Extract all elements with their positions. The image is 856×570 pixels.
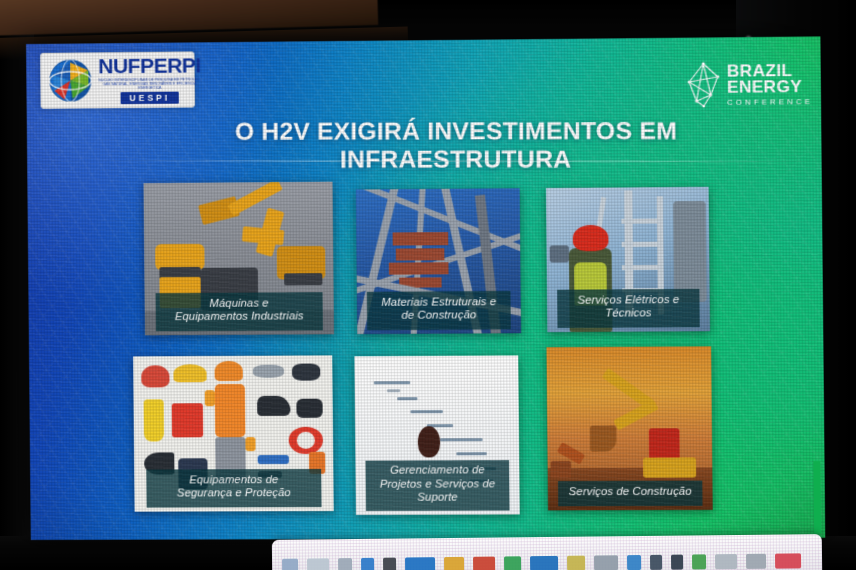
projection-screen: NUFPERPI NUCLEO INTERDISCIPLINAR DE PESQ… bbox=[26, 36, 825, 540]
brazil-energy-conference-text: BRAZIL ENERGY CONFERENCE bbox=[727, 63, 813, 105]
card-gerenciamento[interactable]: Gerenciamento de Projetos e Serviços de … bbox=[354, 355, 519, 515]
caption-line: Equipamentos Industriais bbox=[160, 311, 318, 326]
sponsor-logo-abde bbox=[405, 557, 435, 570]
sponsor-logo-13 bbox=[627, 555, 641, 570]
sponsor-logo-4 bbox=[361, 558, 374, 570]
caption-line: Segurança e Proteção bbox=[150, 487, 317, 501]
sponsor-logo-12 bbox=[594, 555, 618, 570]
bec-line-conference: CONFERENCE bbox=[727, 98, 813, 106]
sponsor-logo-9 bbox=[504, 556, 521, 570]
caption-line: Máquinas e bbox=[160, 297, 318, 312]
polygon-network-icon bbox=[686, 62, 721, 109]
card-construcao[interactable]: Serviços de Construção bbox=[547, 346, 713, 510]
sponsor-logo-8 bbox=[473, 557, 495, 570]
sponsor-logo-15 bbox=[671, 555, 683, 570]
slide-title: O H2V EXIGIRÁ INVESTIMENTOS EM INFRAESTR… bbox=[123, 118, 791, 175]
sponsor-logo-16 bbox=[692, 554, 706, 569]
caption-line: Equipamentos de bbox=[150, 474, 317, 488]
sponsor-logo-7 bbox=[444, 557, 464, 570]
sponsor-logo-bar bbox=[272, 534, 822, 570]
caption-line: Suporte bbox=[370, 492, 506, 506]
sponsor-logo-5 bbox=[383, 558, 396, 570]
card-maquinas[interactable]: Máquinas e Equipamentos Industriais bbox=[144, 182, 335, 336]
sponsor-logo-11 bbox=[567, 556, 585, 570]
card-materiais[interactable]: Materiais Estruturais e de Construção bbox=[356, 188, 521, 334]
card-caption-materiais: Materiais Estruturais e de Construção bbox=[367, 291, 512, 330]
sponsor-logo-18 bbox=[746, 554, 766, 569]
caption-line: Serviços Elétricos e bbox=[561, 294, 696, 309]
card-caption-construcao: Serviços de Construção bbox=[558, 481, 703, 506]
nufperpi-logo-text: NUFPERPI NUCLEO INTERDISCIPLINAR DE PESQ… bbox=[94, 55, 201, 105]
sponsor-logo-14 bbox=[650, 555, 662, 570]
infrastructure-card-grid: Máquinas e Equipamentos Industriais bbox=[113, 177, 743, 527]
card-caption-seguranca: Equipamentos de Segurança e Proteção bbox=[146, 469, 322, 508]
card-caption-gerenciamento: Gerenciamento de Projetos e Serviços de … bbox=[365, 460, 510, 511]
card-caption-maquinas: Máquinas e Equipamentos Industriais bbox=[156, 292, 323, 331]
caption-line: Materiais Estruturais e bbox=[371, 296, 507, 311]
nufperpi-subtitle: NUCLEO INTERDISCIPLINAR DE PESQUISA EM P… bbox=[98, 77, 201, 91]
nufperpi-logo: NUFPERPI NUCLEO INTERDISCIPLINAR DE PESQ… bbox=[40, 51, 195, 108]
card-caption-eletricos: Serviços Elétricos e Técnicos bbox=[557, 289, 700, 328]
sponsor-logo-3 bbox=[338, 558, 352, 570]
sponsor-logo-17 bbox=[715, 554, 737, 569]
caption-line: Projetos e Serviços de bbox=[369, 478, 505, 492]
sponsor-logo-finep bbox=[775, 553, 801, 568]
sponsor-logo-1 bbox=[282, 559, 298, 570]
card-seguranca[interactable]: Equipamentos de Segurança e Proteção bbox=[133, 355, 334, 511]
caption-line: Técnicos bbox=[561, 307, 696, 322]
caption-line: Gerenciamento de bbox=[369, 464, 505, 478]
caption-line: Serviços de Construção bbox=[562, 486, 699, 500]
sponsor-logo-abeeolica bbox=[530, 556, 558, 570]
screen-edge-strip bbox=[813, 461, 821, 534]
brazil-energy-conference-logo: BRAZIL ENERGY CONFERENCE bbox=[686, 55, 801, 115]
conference-room-photo: NUFPERPI NUCLEO INTERDISCIPLINAR DE PESQ… bbox=[0, 0, 856, 570]
caption-line: de Construção bbox=[371, 310, 507, 325]
sponsor-logo-2 bbox=[307, 558, 329, 570]
bec-line-energy: ENERGY bbox=[727, 79, 813, 96]
nufperpi-title: NUFPERPI bbox=[98, 55, 201, 77]
globe-leaf-icon bbox=[46, 56, 95, 104]
card-eletricos[interactable]: Serviços Elétricos e Técnicos bbox=[546, 187, 710, 332]
uespi-badge: UESPI bbox=[120, 92, 179, 105]
